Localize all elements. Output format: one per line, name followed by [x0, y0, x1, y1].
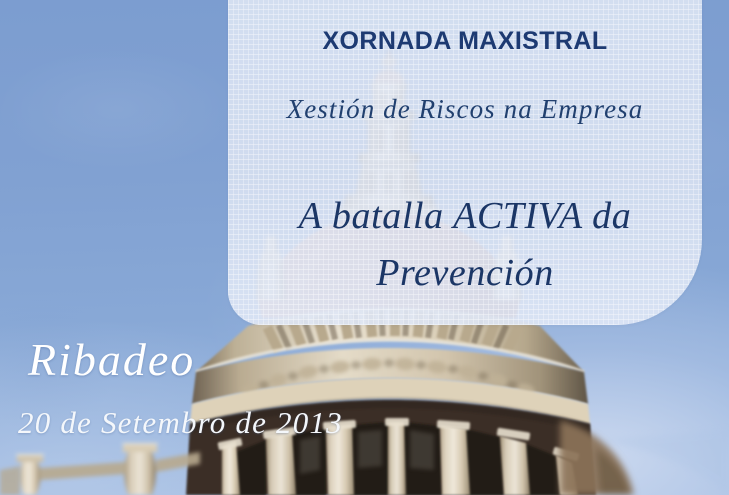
event-location: Ribadeo — [28, 337, 195, 383]
balustrade-left — [16, 444, 200, 495]
event-subtitle: Xestión de Riscos na Empresa — [228, 96, 702, 123]
event-date: 20 de Setembro de 2013 — [18, 407, 343, 438]
panel-text-group: XORNADA MAXISTRAL Xestión de Riscos na E… — [228, 0, 702, 329]
tower-right-haunch — [560, 420, 634, 495]
event-title-line-1: A batalla ACTIVA da — [228, 197, 702, 235]
event-title-line-2: Prevención — [228, 254, 702, 292]
event-headline: XORNADA MAXISTRAL — [228, 29, 702, 54]
event-poster: XORNADA MAXISTRAL Xestión de Riscos na E… — [0, 0, 729, 495]
